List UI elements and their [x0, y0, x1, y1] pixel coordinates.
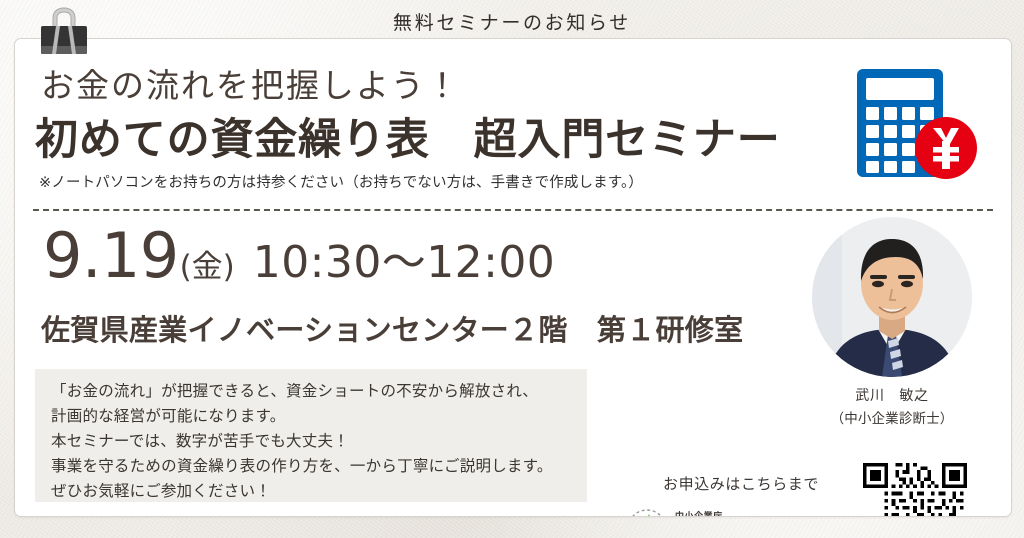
note-line: ※ノートパソコンをお持ちの方は持参ください（お持ちでない方は、手書きで作成します…: [39, 171, 643, 192]
apply-label: お申込みはこちらまで: [663, 473, 819, 494]
description-line: 事業を守るための資金繰り表の作り方を、一から丁寧にご説明します。: [51, 454, 573, 479]
yorozu-support-logo: 中小企業庁 佐賀県よろず 支援拠点: [625, 507, 848, 517]
qr-code[interactable]: [863, 463, 967, 517]
speaker-role: （中小企業診断士）: [797, 407, 987, 427]
date-time: 10:30～12:00: [253, 241, 555, 285]
headline-secondary: 初めての資金繰り表 超入門セミナー: [35, 105, 781, 167]
header-strip: 無料セミナーのお知らせ: [0, 0, 1024, 42]
speaker-portrait-photo: [812, 217, 972, 377]
date-time-row: 9.19 (金) 10:30～12:00: [43, 225, 555, 287]
header-title: 無料セミナーのお知らせ: [393, 8, 631, 35]
speaker-name: 武川 敏之: [797, 385, 987, 405]
description-line: 「お金の流れ」が把握できると、資金ショートの不安から解放され、: [51, 379, 573, 404]
calculator-yen-icon: [841, 65, 989, 183]
venue-text: 佐賀県産業イノベーションセンター２階 第１研修室: [41, 307, 743, 349]
speaker-block: 武川 敏之 （中小企業診断士）: [797, 217, 987, 427]
logo-agency-label: 中小企業庁: [675, 513, 848, 517]
date-day: 9.19: [43, 225, 179, 287]
yorozu-logo-text: 中小企業庁 佐賀県よろず 支援拠点: [675, 513, 848, 517]
flyer-card: お金の流れを把握しよう！ 初めての資金繰り表 超入門セミナー ※ノートパソコンを…: [14, 38, 1012, 517]
headline-primary: お金の流れを把握しよう！: [41, 59, 461, 107]
dashed-divider: [33, 209, 993, 211]
date-weekday: (金): [180, 252, 235, 283]
description-line: 計画的な経営が可能になります。: [51, 404, 573, 429]
description-line: 本セミナーでは、数字が苦手でも大丈夫！: [51, 429, 573, 454]
binder-clip-icon: [30, 2, 98, 60]
description-line: ぜひお気軽にご参加ください！: [51, 479, 573, 504]
yorozu-logo-mark-icon: [625, 507, 669, 517]
description-box: 「お金の流れ」が把握できると、資金ショートの不安から解放され、 計画的な経営が可…: [35, 369, 587, 502]
